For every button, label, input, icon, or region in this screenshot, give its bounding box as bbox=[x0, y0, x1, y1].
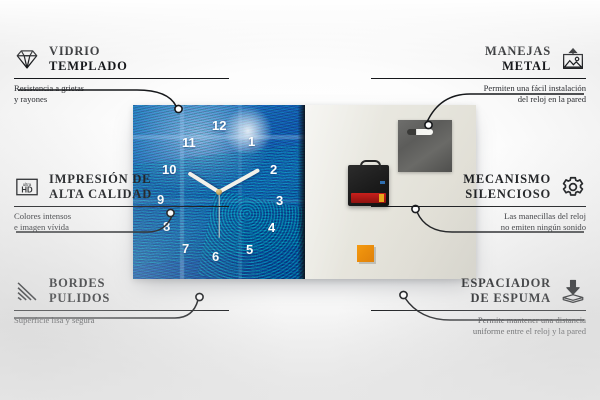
subtitle-line-2: uniforme entre el reloj y la pared bbox=[371, 326, 586, 338]
title-line-2: TEMPLADO bbox=[49, 59, 128, 74]
clock-glass-edge bbox=[298, 105, 305, 279]
clock-numeral-3: 3 bbox=[276, 194, 283, 207]
clock-numeral-5: 5 bbox=[246, 243, 253, 256]
feature-subtitle-bordes: Superficie lisa y segura bbox=[14, 315, 229, 327]
foam-spacer-arrow-icon bbox=[560, 278, 586, 304]
title-line-1: MECANISMO bbox=[463, 172, 551, 187]
picture-frame-hanger-icon bbox=[560, 46, 586, 72]
feature-divider bbox=[14, 310, 229, 311]
feature-espaciador-espuma[interactable]: ESPACIADOR DE ESPUMA Permite mantener un… bbox=[371, 276, 586, 338]
subtitle-line-1: Superficie lisa y segura bbox=[14, 315, 229, 327]
metal-hanger-plate bbox=[398, 120, 452, 172]
clock-numeral-1: 1 bbox=[248, 135, 255, 148]
feature-divider bbox=[371, 78, 586, 79]
title-line-1: IMPRESIÓN DE bbox=[49, 172, 152, 187]
hanger-keyhole-slot bbox=[407, 129, 433, 135]
clock-numeral-2: 2 bbox=[270, 163, 277, 176]
title-line-1: ESPACIADOR bbox=[461, 276, 551, 291]
title-line-1: BORDES bbox=[49, 276, 110, 291]
polished-edge-icon bbox=[14, 278, 40, 304]
feature-title-mecanismo: MECANISMO SILENCIOSO bbox=[463, 172, 551, 202]
feature-divider bbox=[14, 78, 229, 79]
feature-divider bbox=[371, 206, 586, 207]
infographic-canvas: 12 1 2 3 4 5 6 7 8 9 10 11 bbox=[0, 0, 600, 400]
subtitle-line-2: del reloj en la pared bbox=[371, 94, 586, 106]
feature-title-manejas: MANEJAS METAL bbox=[485, 44, 551, 74]
subtitle-line-1: Resistencia a grietas bbox=[14, 83, 229, 95]
title-line-2: METAL bbox=[485, 59, 551, 74]
feature-title-espaciador: ESPACIADOR DE ESPUMA bbox=[461, 276, 551, 306]
feature-subtitle-vidrio-templado: Resistencia a grietas y rayones bbox=[14, 83, 229, 106]
feature-subtitle-mecanismo: Las manecillas del reloj no emiten ningú… bbox=[371, 211, 586, 234]
clock-numeral-12: 12 bbox=[212, 119, 226, 132]
title-line-1: MANEJAS bbox=[485, 44, 551, 59]
feature-title-vidrio-templado: VIDRIO TEMPLADO bbox=[49, 44, 128, 74]
gear-icon bbox=[560, 174, 586, 200]
title-line-2: ALTA CALIDAD bbox=[49, 187, 152, 202]
subtitle-line-1: Colores intensos bbox=[14, 211, 229, 223]
feature-mecanismo-silencioso[interactable]: MECANISMO SILENCIOSO Las manecillas del … bbox=[371, 172, 586, 234]
svg-text:HD: HD bbox=[21, 185, 33, 194]
feature-divider bbox=[371, 310, 586, 311]
title-line-2: PULIDOS bbox=[49, 291, 110, 306]
clock-numeral-7: 7 bbox=[182, 242, 189, 255]
feature-subtitle-impresion: Colores intensos e imagen vívida bbox=[14, 211, 229, 234]
feature-title-bordes: BORDES PULIDOS bbox=[49, 276, 110, 306]
subtitle-line-2: no emiten ningún sonido bbox=[371, 222, 586, 234]
feature-manejas-metal[interactable]: MANEJAS METAL Permiten una fácil instala… bbox=[371, 44, 586, 106]
feature-impresion-alta-calidad[interactable]: ultra HD IMPRESIÓN DE ALTA CALIDAD Color… bbox=[14, 172, 229, 234]
subtitle-line-1: Las manecillas del reloj bbox=[371, 211, 586, 223]
subtitle-line-1: Permite mantener una distancia bbox=[371, 315, 586, 327]
feature-title-impresion: IMPRESIÓN DE ALTA CALIDAD bbox=[49, 172, 152, 202]
ultra-hd-icon: ultra HD bbox=[14, 174, 40, 200]
title-line-2: DE ESPUMA bbox=[461, 291, 551, 306]
mechanism-hanging-loop bbox=[360, 160, 381, 170]
title-line-1: VIDRIO bbox=[49, 44, 128, 59]
feature-subtitle-espaciador: Permite mantener una distancia uniforme … bbox=[371, 315, 586, 338]
subtitle-line-2: e imagen vívida bbox=[14, 222, 229, 234]
foam-spacer-pad bbox=[357, 245, 374, 262]
feature-vidrio-templado[interactable]: VIDRIO TEMPLADO Resistencia a grietas y … bbox=[14, 44, 229, 106]
subtitle-line-1: Permiten una fácil instalación bbox=[371, 83, 586, 95]
feature-divider bbox=[14, 206, 229, 207]
clock-numeral-6: 6 bbox=[212, 250, 219, 263]
clock-numeral-4: 4 bbox=[268, 221, 275, 234]
subtitle-line-2: y rayones bbox=[14, 94, 229, 106]
clock-numeral-11: 11 bbox=[182, 136, 196, 149]
title-line-2: SILENCIOSO bbox=[463, 187, 551, 202]
feature-bordes-pulidos[interactable]: BORDES PULIDOS Superficie lisa y segura bbox=[14, 276, 229, 326]
diamond-icon bbox=[14, 46, 40, 72]
feature-subtitle-manejas: Permiten una fácil instalación del reloj… bbox=[371, 83, 586, 106]
